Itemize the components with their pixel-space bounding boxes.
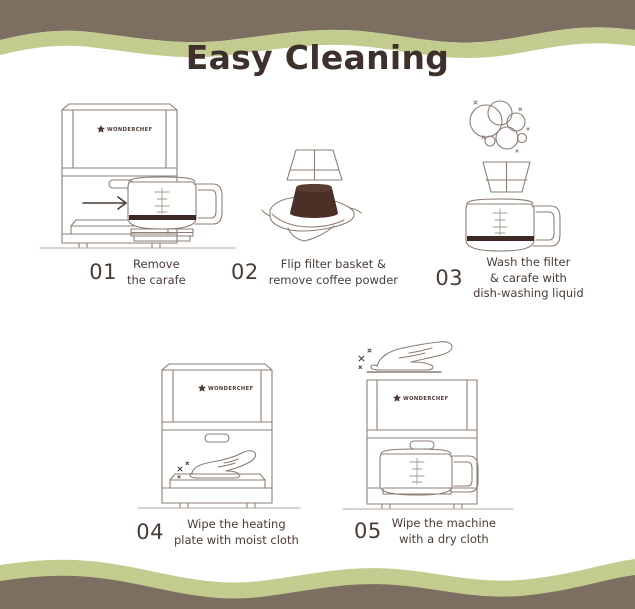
brand-logo-icon: WONDERCHEF	[97, 125, 153, 133]
step-04-text: Wipe the heating plate with moist cloth	[174, 517, 299, 548]
step-01: WONDERCHEF	[35, 98, 240, 288]
step-04-number: 04	[136, 522, 164, 543]
step-05: WONDERCHEF 05 Wipe the machine with a dr…	[325, 336, 525, 547]
step-05-illustration: WONDERCHEF	[325, 336, 525, 514]
step-02-caption: 02 Flip filter basket & remove coffee po…	[222, 257, 407, 288]
step-02: 02 Flip filter basket & remove coffee po…	[222, 98, 407, 288]
step-03-number: 03	[435, 268, 463, 289]
step-05-text: Wipe the machine with a dry cloth	[392, 516, 496, 547]
step-04-caption: 04 Wipe the heating plate with moist clo…	[120, 517, 315, 548]
step-02-number: 02	[231, 262, 259, 283]
step-01-number: 01	[89, 262, 117, 283]
step-02-text: Flip filter basket & remove coffee powde…	[269, 257, 398, 288]
step-01-caption: 01 Remove the carafe	[35, 257, 240, 288]
step-03-text: Wash the filter & carafe with dish-washi…	[473, 255, 584, 302]
step-05-caption: 05 Wipe the machine with a dry cloth	[325, 516, 525, 547]
soap-bubbles-icon	[470, 101, 529, 152]
step-03-illustration	[412, 88, 607, 253]
svg-text:WONDERCHEF: WONDERCHEF	[107, 127, 153, 133]
brand-logo-icon: WONDERCHEF	[198, 384, 254, 392]
step-02-illustration	[222, 98, 407, 253]
step-04-illustration: WONDERCHEF	[120, 358, 315, 513]
svg-text:WONDERCHEF: WONDERCHEF	[208, 386, 254, 392]
step-03: 03 Wash the filter & carafe with dish-wa…	[412, 88, 607, 302]
step-05-number: 05	[354, 521, 382, 542]
svg-text:WONDERCHEF: WONDERCHEF	[403, 396, 449, 402]
hand-wiping-icon	[371, 342, 452, 370]
page-title: Easy Cleaning	[0, 38, 635, 77]
step-04: WONDERCHEF 04 Wipe the heating plate wit…	[120, 358, 315, 548]
brand-logo-icon: WONDERCHEF	[393, 394, 449, 402]
right-arrow-icon	[83, 197, 126, 209]
step-01-text: Remove the carafe	[127, 257, 186, 288]
step-03-caption: 03 Wash the filter & carafe with dish-wa…	[412, 255, 607, 302]
poster-page: Easy Cleaning	[0, 0, 635, 609]
step-01-illustration: WONDERCHEF	[35, 98, 240, 253]
bottom-wave-decoration	[0, 547, 635, 609]
